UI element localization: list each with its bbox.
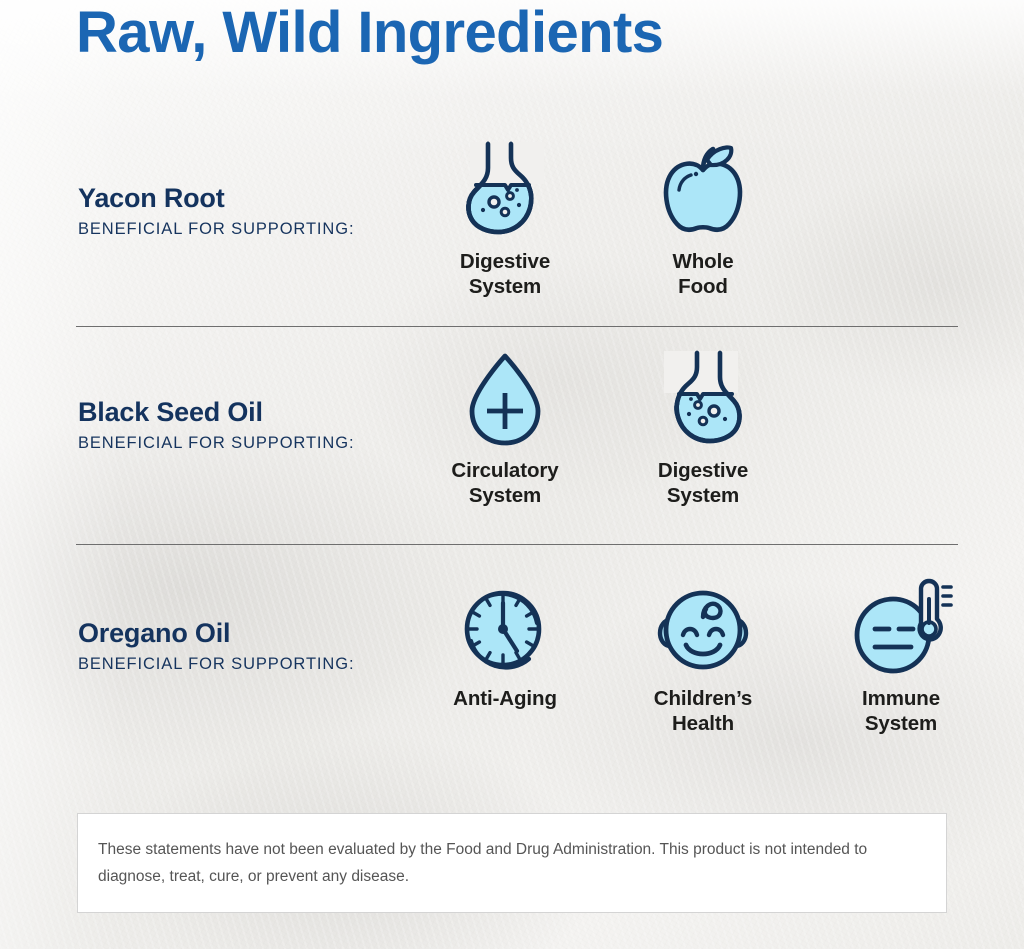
- benefit-label: Digestive System: [460, 249, 550, 299]
- fda-disclaimer-box: These statements have not been evaluated…: [77, 813, 947, 913]
- ingredient-heading-block: Black Seed Oil BENEFICIAL FOR SUPPORTING…: [78, 396, 448, 453]
- benefit-label-line2: System: [451, 483, 558, 508]
- benefit-label-line1: Children’s: [654, 686, 752, 711]
- apple-icon: [659, 144, 747, 240]
- benefit-icon-group: Digestive System Whole Fo: [435, 144, 773, 299]
- ingredient-subtitle: BENEFICIAL FOR SUPPORTING:: [78, 219, 448, 239]
- benefit-item-whole-food: Whole Food: [633, 144, 773, 299]
- ingredient-subtitle: BENEFICIAL FOR SUPPORTING:: [78, 433, 448, 453]
- ingredient-heading-block: Oregano Oil BENEFICIAL FOR SUPPORTING:: [78, 617, 448, 674]
- benefit-label: Circulatory System: [451, 458, 558, 508]
- benefit-label-line2: System: [658, 483, 748, 508]
- section-divider: [76, 326, 958, 327]
- benefit-item-childrens-health: Children’s Health: [633, 581, 773, 736]
- benefit-label-line2: Food: [673, 274, 734, 299]
- benefit-item-digestive-system: Digestive System: [633, 353, 773, 508]
- baby-face-icon: [653, 581, 753, 677]
- benefit-item-immune-system: Immune System: [831, 581, 971, 736]
- benefit-label-line1: Immune: [862, 686, 940, 711]
- benefit-label-line1: Anti-Aging: [453, 686, 557, 711]
- stomach-icon: [662, 353, 744, 449]
- benefit-label: Whole Food: [673, 249, 734, 299]
- benefit-label: Immune System: [862, 686, 940, 736]
- benefit-label-line1: Circulatory: [451, 458, 558, 483]
- benefit-icon-group: Circulatory System: [435, 353, 773, 508]
- sick-face-thermometer-icon: [849, 581, 953, 677]
- benefit-label-line2: Health: [654, 711, 752, 736]
- benefit-label-line1: Digestive: [460, 249, 550, 274]
- benefit-label-line2: System: [460, 274, 550, 299]
- benefit-icon-group: Anti-Aging Children: [435, 581, 971, 736]
- benefit-item-digestive-system: Digestive System: [435, 144, 575, 299]
- benefit-label: Anti-Aging: [453, 686, 557, 711]
- benefit-label-line1: Whole: [673, 249, 734, 274]
- stomach-icon: [464, 144, 546, 240]
- blood-drop-plus-icon: [462, 353, 548, 449]
- benefit-item-anti-aging: Anti-Aging: [435, 581, 575, 711]
- benefit-label-line1: Digestive: [658, 458, 748, 483]
- section-divider: [76, 544, 958, 545]
- ingredient-name: Yacon Root: [78, 182, 448, 214]
- benefit-item-circulatory-system: Circulatory System: [435, 353, 575, 508]
- page-title: Raw, Wild Ingredients: [76, 0, 663, 68]
- benefit-label: Children’s Health: [654, 686, 752, 736]
- clock-icon: [459, 581, 551, 677]
- ingredient-heading-block: Yacon Root BENEFICIAL FOR SUPPORTING:: [78, 182, 448, 239]
- ingredient-name: Black Seed Oil: [78, 396, 448, 428]
- ingredient-name: Oregano Oil: [78, 617, 448, 649]
- ingredient-subtitle: BENEFICIAL FOR SUPPORTING:: [78, 654, 448, 674]
- fda-disclaimer-text: These statements have not been evaluated…: [98, 836, 924, 890]
- benefit-label: Digestive System: [658, 458, 748, 508]
- infographic-page: Raw, Wild Ingredients Yacon Root BENEFIC…: [0, 0, 1024, 949]
- benefit-label-line2: System: [862, 711, 940, 736]
